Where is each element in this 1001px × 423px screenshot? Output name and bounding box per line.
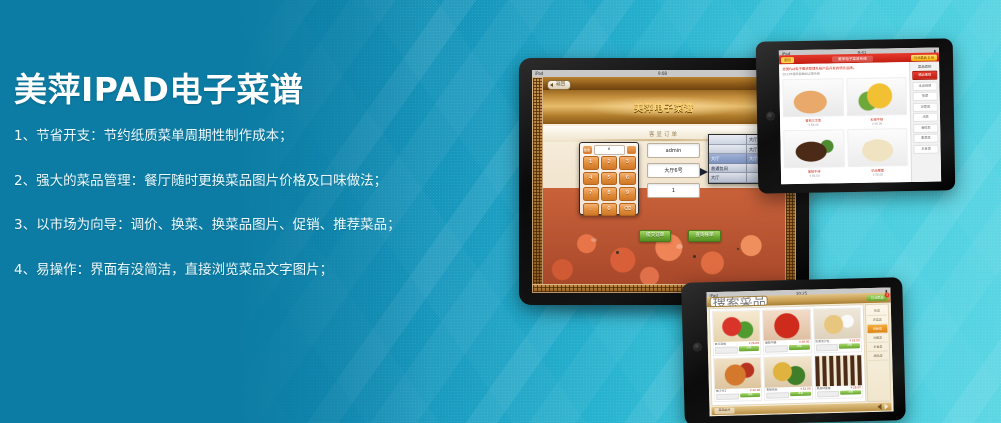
sidebar-item-category[interactable]: 汤类 xyxy=(913,113,938,122)
dish-card[interactable]: 彩椒牛柳 ￥46.00 xyxy=(846,77,907,126)
add-dish-button[interactable]: 点菜 xyxy=(840,390,861,395)
dish-photo xyxy=(783,129,844,168)
room-field[interactable]: 大厅6号 xyxy=(647,163,700,178)
dish-grid-panel: 爽口双椒 ￥26.00 点菜 番茄牛腩 xyxy=(709,304,867,406)
dish-detail-button[interactable] xyxy=(817,390,840,397)
dish-name: 辣子鸡丁 xyxy=(716,388,727,392)
dish-card[interactable]: 辣子鸡丁 ￥42.00 点菜 xyxy=(713,356,762,402)
add-dish-button[interactable]: 点菜 xyxy=(839,343,860,348)
query-bill-button[interactable]: 查询账单 xyxy=(688,230,720,242)
keypad-key[interactable]: 9 xyxy=(619,187,635,201)
dish-name: 青椒肉丝 xyxy=(766,387,777,391)
sidebar-item-category[interactable]: 精品推荐 xyxy=(912,71,937,80)
list-item: 3、以市场为向导：调价、换菜、换菜品图片、促销、推荐菜品； xyxy=(14,219,434,233)
dish-price: ￥32.00 xyxy=(800,386,811,390)
user-field[interactable]: admin xyxy=(647,143,700,158)
keypad-key[interactable]: 4 xyxy=(583,172,599,186)
dish-card[interactable]: 奶油意面 ￥38.00 xyxy=(847,128,908,177)
dish-grid: 香煎三文鱼 ￥88.00 彩椒牛柳 ￥46.00 黑椒牛排 ￥68.00 xyxy=(782,77,908,178)
add-dish-button[interactable]: 点菜 xyxy=(740,392,761,397)
status-time: 9:08 xyxy=(658,70,667,77)
table-cell[interactable]: 普通包间 xyxy=(709,164,747,174)
dish-card[interactable]: 香煎三文鱼 ￥88.00 xyxy=(782,78,843,127)
back-button[interactable]: 返回 xyxy=(547,80,571,90)
table-cell-selected[interactable]: 大厅 xyxy=(709,154,747,164)
sidebar-title: 菜品类别 xyxy=(912,64,937,69)
search-input[interactable] xyxy=(710,296,768,308)
prev-page-icon[interactable] xyxy=(877,404,881,410)
list-item: 4、易操作：界面有没简洁，直接浏览菜品文字图片； xyxy=(14,264,434,278)
count-field[interactable]: 1 xyxy=(647,183,700,198)
notice-text: 全国Pad电子餐谱管理系统产品开发的领先品牌。 2013年最新版触屏点菜系统 xyxy=(782,65,906,77)
keypad-key[interactable]: 5 xyxy=(601,172,617,186)
keypad-grid: 1 2 3 4 5 6 7 8 9 . 0 ⌫ xyxy=(583,156,636,216)
app-banner: 美萍电子菜谱 xyxy=(543,90,785,124)
greek-key-border-left xyxy=(532,77,543,293)
sidebar-item-category[interactable]: 素菜类 xyxy=(913,134,938,143)
dish-price: ￥18.00 xyxy=(849,338,860,342)
keypad-key[interactable]: . xyxy=(583,203,599,217)
dish-price: ￥48.00 xyxy=(799,340,810,344)
expand-arrow-icon[interactable] xyxy=(700,168,708,176)
dish-actions: 点菜 xyxy=(814,342,861,352)
header-title: 美萍电子菜谱系统 xyxy=(832,55,873,62)
page-title: 美萍IPAD电子菜谱 xyxy=(14,72,434,108)
dish-name: 黑森林蛋糕 xyxy=(817,386,831,390)
keypad-key[interactable]: 0 xyxy=(601,203,617,217)
dish-grid: 爽口双椒 ￥26.00 点菜 番茄牛腩 xyxy=(712,307,863,402)
dish-price: ￥28.00 xyxy=(850,385,861,389)
dish-detail-button[interactable] xyxy=(765,345,788,352)
keypad-tag-label: 数量 xyxy=(583,146,592,154)
cart-button[interactable]: 已点菜品 3 xyxy=(867,294,888,301)
dish-photo xyxy=(847,128,908,167)
dish-photo xyxy=(713,311,760,342)
dish-price: ￥68.00 xyxy=(784,173,845,178)
sidebar-item-category[interactable]: 热菜 xyxy=(913,92,938,101)
pagination-controls xyxy=(877,404,888,410)
footer-tab[interactable]: 菜品展示 xyxy=(714,408,734,414)
feature-list: 1、节省开支：节约纸质菜单周期性制作成本； 2、强大的菜品管理：餐厅随时更换菜品… xyxy=(14,130,434,277)
back-button[interactable]: 返回 xyxy=(781,57,794,63)
dish-actions: 点菜 xyxy=(816,389,863,399)
dish-card[interactable]: 黑椒牛排 ￥68.00 xyxy=(783,129,844,178)
keypad-input[interactable]: 6 xyxy=(594,145,625,155)
dish-catalog-app: iPad 10:25 ▮ 已点菜品 3 xyxy=(706,287,893,416)
dish-photo xyxy=(763,310,810,341)
table-cell[interactable] xyxy=(709,145,747,155)
keypad-key[interactable]: 2 xyxy=(601,156,617,170)
keypad-key-backspace[interactable]: ⌫ xyxy=(619,203,635,217)
home-button-icon[interactable] xyxy=(693,342,702,351)
add-dish-button[interactable]: 点菜 xyxy=(739,346,760,351)
numeric-keypad[interactable]: 数量 6 1 2 3 4 5 6 7 8 9 . xyxy=(579,142,639,215)
table-cell[interactable] xyxy=(709,135,747,145)
dish-detail-button[interactable] xyxy=(716,393,739,400)
dish-grid-panel: 全国Pad电子餐谱管理系统产品开发的领先品牌。 2013年最新版触屏点菜系统 香… xyxy=(779,62,911,184)
dish-name: 奶黄流沙包 xyxy=(815,339,829,343)
dish-card[interactable]: 黑森林蛋糕 ￥28.00 点菜 xyxy=(814,354,863,400)
list-item: 2、强大的菜品管理：餐厅随时更换菜品图片价格及口味做法； xyxy=(14,175,434,189)
tablet-screen-bottom-right: iPad 10:25 ▮ 已点菜品 3 xyxy=(706,287,893,416)
keypad-display-row: 数量 6 xyxy=(583,146,636,154)
keypad-key[interactable]: 8 xyxy=(601,187,617,201)
tablet-device-bottom-right: iPad 10:25 ▮ 已点菜品 3 xyxy=(681,277,906,423)
dish-detail-button[interactable] xyxy=(715,346,738,353)
add-dish-button[interactable]: 点菜 xyxy=(790,391,811,396)
dish-actions: 点菜 xyxy=(715,391,762,401)
keypad-delete-icon[interactable] xyxy=(627,146,636,154)
dish-detail-button[interactable] xyxy=(766,392,789,399)
order-form-fields: admin 大厅6号 1 xyxy=(647,143,700,203)
dish-card[interactable]: 青椒肉丝 ￥32.00 点菜 xyxy=(763,355,812,401)
keypad-key[interactable]: 6 xyxy=(619,172,635,186)
dish-actions: 点菜 xyxy=(714,345,761,355)
sidebar-item-category[interactable]: 海鲜类 xyxy=(913,123,938,132)
dish-price: ￥26.00 xyxy=(748,341,759,345)
category-sidebar: 热菜 凉菜类 招牌菜 汤羹类 主食类 甜品类 xyxy=(865,303,892,402)
home-button-icon[interactable] xyxy=(766,111,775,120)
dish-price: ￥38.00 xyxy=(847,172,908,177)
app-toolbar: 返回 xyxy=(543,77,785,91)
category-sidebar: 菜品类别 精品推荐 本店招牌 热菜 凉菜类 汤类 海鲜类 素菜类 主食类 xyxy=(909,62,941,183)
dish-card[interactable]: 奶黄流沙包 ￥18.00 点菜 xyxy=(813,307,862,353)
dish-photo xyxy=(782,78,843,117)
submit-order-button[interactable]: 提交订单 xyxy=(639,230,671,242)
app-title: 美萍电子菜谱 xyxy=(543,90,785,124)
cart-label: 已点菜品 xyxy=(871,295,884,299)
dish-photo xyxy=(714,357,761,388)
dish-price: ￥88.00 xyxy=(783,122,844,127)
sidebar-item-category[interactable]: 主食类 xyxy=(914,144,939,153)
keypad-key[interactable]: 7 xyxy=(583,187,599,201)
dish-card[interactable]: 爽口双椒 ￥26.00 点菜 xyxy=(712,310,761,356)
dish-card[interactable]: 番茄牛腩 ￥48.00 点菜 xyxy=(762,309,811,355)
tablet-device-top-right: iPad 9:41 ▮ 返回 美萍电子菜谱系统 已点菜品 0 份 全国Pad电子… xyxy=(756,38,956,193)
menu-browse-app: iPad 9:41 ▮ 返回 美萍电子菜谱系统 已点菜品 0 份 全国Pad电子… xyxy=(779,48,941,185)
sidebar-item-category[interactable]: 本店招牌 xyxy=(912,81,937,90)
tablet-screen-top-right: iPad 9:41 ▮ 返回 美萍电子菜谱系统 已点菜品 0 份 全国Pad电子… xyxy=(779,48,941,185)
action-button-row: 提交订单 查询账单 xyxy=(639,230,721,242)
dish-photo xyxy=(846,77,907,116)
dish-name: 番茄牛腩 xyxy=(765,340,776,344)
dish-price: ￥42.00 xyxy=(749,387,760,391)
dish-detail-button[interactable] xyxy=(815,344,838,351)
next-page-icon[interactable] xyxy=(884,404,888,410)
promo-banner: 美萍IPAD电子菜谱 1、节省开支：节约纸质菜单周期性制作成本； 2、强大的菜品… xyxy=(0,0,1001,423)
promo-copy: 美萍IPAD电子菜谱 1、节省开支：节约纸质菜单周期性制作成本； 2、强大的菜品… xyxy=(14,72,434,308)
dish-photo xyxy=(814,308,861,339)
notice-subtitle: 2013年最新版触屏点菜系统 xyxy=(782,70,906,77)
dish-price: ￥46.00 xyxy=(847,121,908,126)
list-item: 1、节省开支：节约纸质菜单周期性制作成本； xyxy=(14,130,434,144)
keypad-key[interactable]: 3 xyxy=(619,156,635,170)
sidebar-item-category[interactable]: 凉菜类 xyxy=(913,102,938,111)
dish-name: 爽口双椒 xyxy=(715,342,726,346)
sidebar-item-category[interactable]: 甜品类 xyxy=(868,352,888,362)
dish-photo xyxy=(764,356,811,387)
add-dish-button[interactable]: 点菜 xyxy=(789,345,810,350)
table-cell[interactable]: 大厅 xyxy=(709,173,747,183)
cart-badge: 3 xyxy=(884,292,889,297)
dish-actions: 点菜 xyxy=(765,390,812,400)
cart-button[interactable]: 已点菜品 0 份 xyxy=(911,54,937,60)
dish-photo xyxy=(815,355,862,386)
dish-actions: 点菜 xyxy=(764,344,811,354)
notice-title: 全国Pad电子餐谱管理系统产品开发的领先品牌。 xyxy=(782,66,856,71)
keypad-key[interactable]: 1 xyxy=(583,156,599,170)
status-carrier: iPad xyxy=(535,70,543,77)
